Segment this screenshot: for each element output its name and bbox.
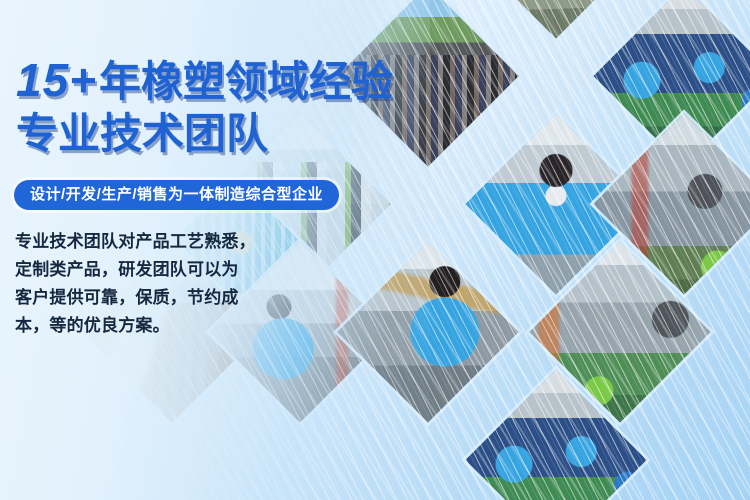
capability-pill: 设计/开发/生产/销售为一体制造综合型企业 [14, 180, 339, 210]
description-line: 本，等的优良方案。 [15, 312, 285, 340]
collage-tile-injection-molding-workshop [465, 0, 646, 39]
description-line: 定制类产品，研发团队可以为 [15, 256, 285, 284]
text-content-block: 15+年橡塑领域经验 专业技术团队 设计/开发/生产/销售为一体制造综合型企业 … [0, 0, 420, 500]
description-line: 客户提供可靠，保质，节约成 [15, 284, 285, 312]
headline-line-2: 专业技术团队 [16, 108, 268, 160]
headline-line-1-text: 年橡塑领域经验 [99, 58, 393, 105]
description-line: 专业技术团队对产品工艺熟悉， [15, 228, 285, 256]
photo-injection-molding-workshop [465, 0, 646, 39]
headline-line-1: 15+年橡塑领域经验 [16, 54, 393, 108]
company-strength-banner: 15+年橡塑领域经验 专业技术团队 设计/开发/生产/销售为一体制造综合型企业 … [0, 0, 750, 500]
description-paragraph: 专业技术团队对产品工艺熟悉， 定制类产品，研发团队可以为 客户提供可靠，保质，节… [15, 228, 285, 340]
years-count: 15+ [16, 54, 99, 106]
